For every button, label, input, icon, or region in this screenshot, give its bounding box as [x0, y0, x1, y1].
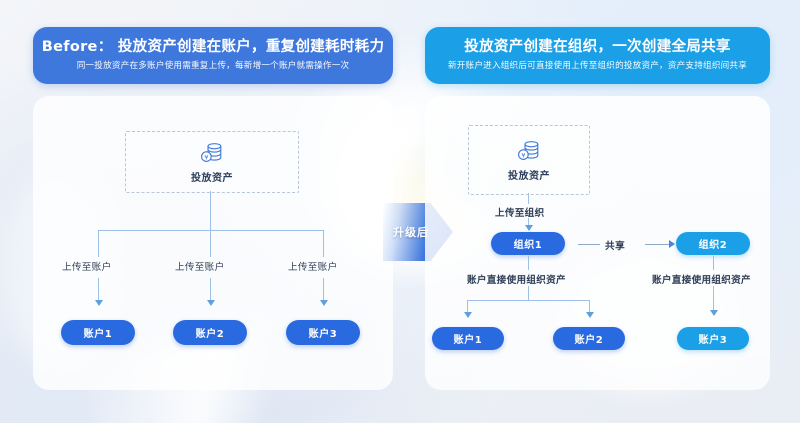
share-dash-left: [578, 244, 600, 245]
arrow-head-3: [320, 300, 328, 306]
pill-account-1-right-label: 账户1: [454, 331, 483, 346]
share-dash-right: [645, 244, 670, 245]
header-subtitle-before: 同一投放资产在多账户使用需重复上传，每新增一个账户就需操作一次: [77, 62, 350, 71]
pill-account-2-left[interactable]: 账户2: [173, 320, 247, 345]
connector-org1-down2: [528, 286, 529, 300]
use-label-2: 账户直接使用组织资产: [652, 272, 751, 286]
connector-drop-3: [323, 230, 324, 257]
asset-label-left: 投放资产: [191, 169, 233, 184]
pill-account-3-right[interactable]: 账户3: [677, 327, 749, 350]
pill-account-3-right-label: 账户3: [699, 331, 728, 346]
header-subtitle-after: 新开账户进入组织后可直接使用上传至组织的投放资产，资产支持组织间共享: [448, 62, 747, 71]
connector-bus-right-1: [467, 300, 589, 301]
pill-account-3-left-label: 账户3: [309, 325, 338, 340]
pill-account-2-right[interactable]: 账户2: [553, 327, 625, 350]
connector-trunk-left: [210, 191, 211, 230]
pill-org-2[interactable]: 组织2: [676, 232, 750, 255]
upload-org-label: 上传至组织: [495, 205, 544, 219]
coin-stack-icon: ¥: [199, 141, 225, 165]
svg-text:¥: ¥: [521, 151, 525, 159]
branch-label-3: 上传至账户: [288, 259, 337, 273]
share-arrow-head: [669, 240, 675, 248]
pill-account-3-left[interactable]: 账户3: [286, 320, 360, 345]
arrow-head-r1: [464, 312, 472, 318]
coin-stack-icon: ¥: [516, 139, 542, 163]
share-label: 共享: [605, 238, 625, 252]
asset-box-right: ¥ 投放资产: [468, 125, 590, 195]
arrow-head-r3: [710, 310, 718, 316]
connector-org2-down2: [713, 286, 714, 312]
connector-arrow-line-1: [98, 278, 99, 302]
connector-drop-2: [210, 230, 211, 257]
connector-arrow-line-3: [323, 278, 324, 302]
asset-label-right: 投放资产: [508, 167, 550, 182]
connector-upload-top: [528, 193, 529, 204]
header-title-after: 投放资产创建在组织，一次创建全局共享: [464, 40, 730, 55]
connector-org2-down: [713, 256, 714, 270]
use-label-1: 账户直接使用组织资产: [467, 272, 566, 286]
branch-label-2: 上传至账户: [175, 259, 224, 273]
pill-account-1-right[interactable]: 账户1: [432, 327, 504, 350]
asset-box-left: ¥ 投放资产: [125, 131, 299, 193]
pill-org-2-label: 组织2: [699, 236, 728, 251]
arrow-head-r2: [586, 312, 594, 318]
arrow-head-1: [95, 300, 103, 306]
infographic-stage: Before： 投放资产创建在账户，重复创建耗时耗力 同一投放资产在多账户使用需…: [0, 0, 800, 423]
connector-arrow-line-2: [210, 278, 211, 302]
connector-org1-down: [528, 256, 529, 270]
pill-org-1[interactable]: 组织1: [491, 232, 565, 255]
connector-drop-1: [98, 230, 99, 257]
pill-account-2-right-label: 账户2: [575, 331, 604, 346]
header-banner-after: 投放资产创建在组织，一次创建全局共享 新开账户进入组织后可直接使用上传至组织的投…: [425, 27, 770, 84]
pill-account-1-left-label: 账户1: [84, 325, 113, 340]
pill-account-1-left[interactable]: 账户1: [61, 320, 135, 345]
upgrade-chevron-label: 升级后: [393, 224, 429, 240]
header-banner-before: Before： 投放资产创建在账户，重复创建耗时耗力 同一投放资产在多账户使用需…: [33, 27, 393, 84]
svg-text:¥: ¥: [204, 153, 208, 161]
pill-account-2-left-label: 账户2: [196, 325, 225, 340]
header-title-before: Before： 投放资产创建在账户，重复创建耗时耗力: [42, 40, 385, 55]
pill-org-1-label: 组织1: [514, 236, 543, 251]
branch-label-1: 上传至账户: [62, 259, 111, 273]
arrow-head-2: [207, 300, 215, 306]
arrow-head-upload: [525, 225, 533, 231]
